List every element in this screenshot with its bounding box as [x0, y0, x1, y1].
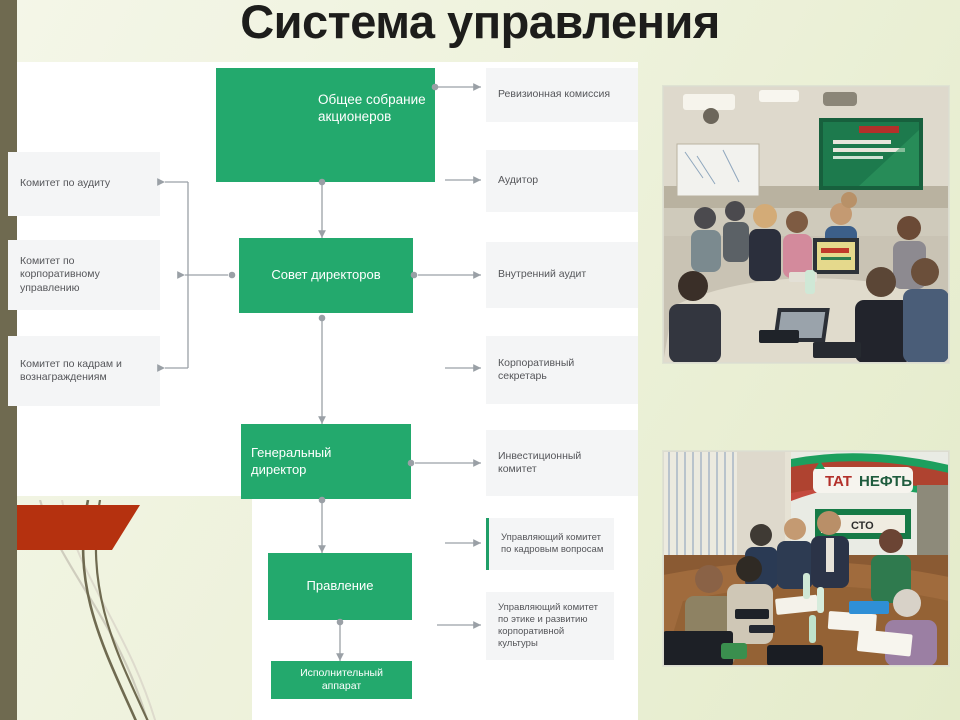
node-general-meeting[interactable]: Общее собрание акционеров — [216, 68, 435, 182]
node-label: Инвестиционный комитет — [498, 450, 610, 476]
node-hr-remuneration-committee[interactable]: Комитет по кадрам и вознаграждениям — [8, 336, 160, 406]
photo-meeting-room — [662, 85, 950, 364]
node-audit-committee[interactable]: Комитет по аудиту — [8, 152, 160, 216]
page-title: Система управления — [0, 0, 960, 49]
node-label: Комитет по кадрам и вознаграждениям — [20, 358, 152, 384]
node-investment-committee[interactable]: Инвестиционный комитет — [486, 430, 638, 496]
node-label: Управляющий комитет по этике и развитию … — [498, 602, 606, 650]
node-label: Ревизионная комиссия — [498, 88, 628, 101]
svg-text:TAT: TAT — [825, 473, 852, 490]
photo-tatneft-room: TAT НЕФТЬ СТО — [662, 450, 950, 667]
node-label: Управляющий комитет по кадровым вопросам — [501, 532, 611, 556]
node-management-board[interactable]: Правление — [268, 553, 412, 620]
node-internal-audit[interactable]: Внутренний аудит — [486, 242, 638, 308]
node-label: Общее собрание акционеров — [308, 92, 446, 126]
node-label: Совет директоров — [261, 267, 390, 283]
node-label: Корпоративный секретарь — [498, 357, 610, 383]
node-board-of-directors[interactable]: Совет директоров — [239, 238, 413, 313]
node-label: Аудитор — [498, 174, 628, 187]
slide: Система управления — [0, 0, 960, 720]
node-label: Правление — [297, 578, 384, 594]
node-corporate-governance-committee[interactable]: Комитет по корпоративному управлению — [8, 240, 160, 310]
node-ceo[interactable]: Генеральный директор — [241, 424, 411, 499]
node-hr-management-committee[interactable]: Управляющий комитет по кадровым вопросам — [486, 518, 614, 570]
node-label: Комитет по корпоративному управлению — [20, 255, 142, 294]
node-label: Комитет по аудиту — [20, 177, 148, 190]
node-label: Внутренний аудит — [498, 268, 628, 281]
node-corporate-secretary[interactable]: Корпоративный секретарь — [486, 336, 638, 404]
svg-text:СТО: СТО — [851, 520, 874, 532]
node-label: Исполнительный аппарат — [271, 667, 412, 693]
node-label: Генеральный директор — [241, 445, 366, 478]
node-revision-commission[interactable]: Ревизионная комиссия — [486, 68, 638, 122]
node-auditor[interactable]: Аудитор — [486, 150, 638, 212]
svg-text:НЕФТЬ: НЕФТЬ — [859, 473, 912, 490]
node-ethics-culture-committee[interactable]: Управляющий комитет по этике и развитию … — [486, 592, 614, 660]
node-executive-office[interactable]: Исполнительный аппарат — [271, 661, 412, 699]
